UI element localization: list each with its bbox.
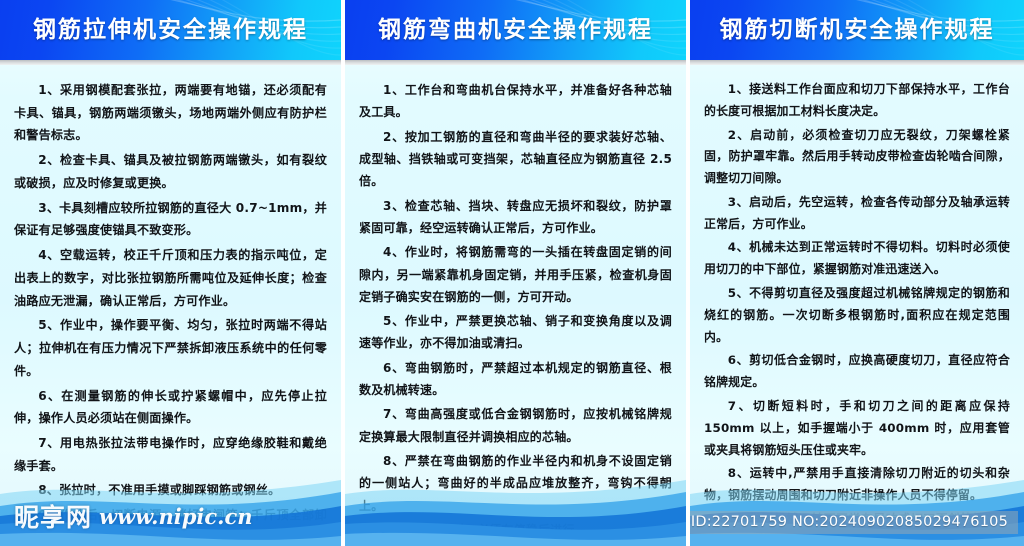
panel-2-banner: 钢筋弯曲机安全操作规程 [345, 0, 686, 60]
rule-item: 2、检查卡具、锚具及被拉钢筋两端镦头，如有裂纹或破损，应及时修复或更换。 [14, 149, 327, 194]
panel-2-banner-edge [345, 60, 686, 65]
poster-panel-2: 钢筋弯曲机安全操作规程 1、工作台和弯曲机台保持水平，并准备好各种芯轴及工具。 … [345, 0, 686, 546]
rule-item: 6、在测量钢筋的伸长或拧紧螺帽中，应先停止拉伸，操作人员必须站在侧面操作。 [14, 385, 327, 430]
rule-item: 6、弯曲钢筋时，严禁超过本机规定的钢筋直径、根数及机械转速。 [359, 357, 672, 402]
panel-3-title: 钢筋切断机安全操作规程 [720, 19, 995, 42]
rule-item: 5、作业中，严禁更换芯轴、销子和变换角度以及调速等作业，亦不得加油或清扫。 [359, 310, 672, 355]
rule-item: 8、运转中,严禁用手直接清除切刀附近的切头和杂物，钢筋摆动周围和切刀附近非操作人… [704, 463, 1010, 507]
panel-2-title: 钢筋弯曲机安全操作规程 [378, 19, 653, 42]
image-id-strip: ID:22701759 NO:20240902085029476105 [690, 511, 1018, 534]
panel-3-banner-edge [690, 60, 1024, 65]
rule-item: 7、弯曲高强度或低合金钢钢筋时，应按机械铭牌规定换算最大限制直径并调换相应的芯轴… [359, 403, 672, 448]
rule-item: 2、按加工钢筋的直径和弯曲半径的要求装好芯轴、成型轴、挡铁轴或可变挡架，芯轴直径… [359, 126, 672, 193]
rule-item: 3、检查芯轴、挡块、转盘应无损坏和裂纹，防护罩紧固可靠，经空运转确认正常后，方可… [359, 195, 672, 240]
poster-panel-3: 钢筋切断机安全操作规程 1、接送料工作台面应和切刀下部保持水平，工作台的长度可根… [690, 0, 1024, 546]
rule-item: 9、转盘换向时，必须在停稳后进行。 [359, 519, 672, 541]
rule-item: 1、采用钢模配套张拉，两端要有地锚，还必须配有卡具、锚具，钢筋两端须镦头，场地两… [14, 79, 327, 147]
panel-1-banner: 钢筋拉伸机安全操作规程 [0, 0, 341, 60]
rule-item: 1、工作台和弯曲机台保持水平，并准备好各种芯轴及工具。 [359, 79, 672, 124]
rule-item: 5、作业中，操作要平衡、均匀，张拉时两端不得站人；拉伸机在有压力情况下严禁拆卸液… [14, 314, 327, 382]
panel-3-content: 1、接送料工作台面应和切刀下部保持水平，工作台的长度可根据加工材料长度决定。 2… [690, 65, 1024, 546]
rule-item: 1、接送料工作台面应和切刀下部保持水平，工作台的长度可根据加工材料长度决定。 [704, 79, 1010, 123]
rule-item: 3、卡具刻槽应较所拉钢筋的直径大 0.7~1mm，并保证有足够强度使锚具不致变形… [14, 197, 327, 242]
panel-1-content: 1、采用钢模配套张拉，两端要有地锚，还必须配有卡具、锚具，钢筋两端须镦头，场地两… [0, 65, 341, 546]
rule-item: 4、机械未达到正常运转时不得切料。切料时必须使用切刀的中下部位，紧握钢筋对准迅速… [704, 237, 1010, 281]
rule-item: 3、启动后，先空运转，检查各传动部分及轴承运转正常后，方可作业。 [704, 192, 1010, 236]
rule-item: 7、用电热张拉法带电操作时，应穿绝缘胶鞋和戴绝缘手套。 [14, 432, 327, 477]
rule-item: 4、作业时，将钢筋需弯的一头插在转盘固定销的间隙内，另一端紧靠机身固定销，并用手… [359, 241, 672, 308]
rule-item: 7、切断短料时，手和切刀之间的距离应保持 150mm 以上，如手握端小于 400… [704, 396, 1010, 461]
rule-item: 4、空载运转，校正千斤顶和压力表的指示吨位，定出表上的数字，对比张拉钢筋所需吨位… [14, 244, 327, 312]
rule-item: 2、启动前，必须检查切刀应无裂纹，刀架螺栓紧固，防护罩牢靠。然后用手转动皮带检查… [704, 125, 1010, 190]
rule-item: 9、作业后，切断电源，锁好电闸箱；千斤顶全部卸荷并将拉伸设备放指定地点进行保养。 [14, 504, 327, 546]
rule-item: 8、张拉时，不准用手摸或脚踩钢筋或钢丝。 [14, 479, 327, 502]
poster-panel-1: 钢筋拉伸机安全操作规程 1、采用钢模配套张拉，两端要有地锚，还必须配有卡具、锚具… [0, 0, 341, 546]
rule-item: 8、严禁在弯曲钢筋的作业半径内和机身不设固定销的一侧站人；弯曲好的半成品应堆放整… [359, 450, 672, 517]
poster-board: 钢筋拉伸机安全操作规程 1、采用钢模配套张拉，两端要有地锚，还必须配有卡具、锚具… [0, 0, 1024, 546]
panel-1-banner-edge [0, 60, 341, 65]
panel-1-title: 钢筋拉伸机安全操作规程 [33, 19, 308, 42]
rule-item: 6、剪切低合金钢时，应换高硬度切刀，直径应符合铭牌规定。 [704, 350, 1010, 394]
panel-2-content: 1、工作台和弯曲机台保持水平，并准备好各种芯轴及工具。 2、按加工钢筋的直径和弯… [345, 65, 686, 546]
panel-3-banner: 钢筋切断机安全操作规程 [690, 0, 1024, 60]
rule-item: 5、不得剪切直径及强度超过机械铭牌规定的钢筋和烧红的钢筋。一次切断多根钢筋时,面… [704, 283, 1010, 348]
